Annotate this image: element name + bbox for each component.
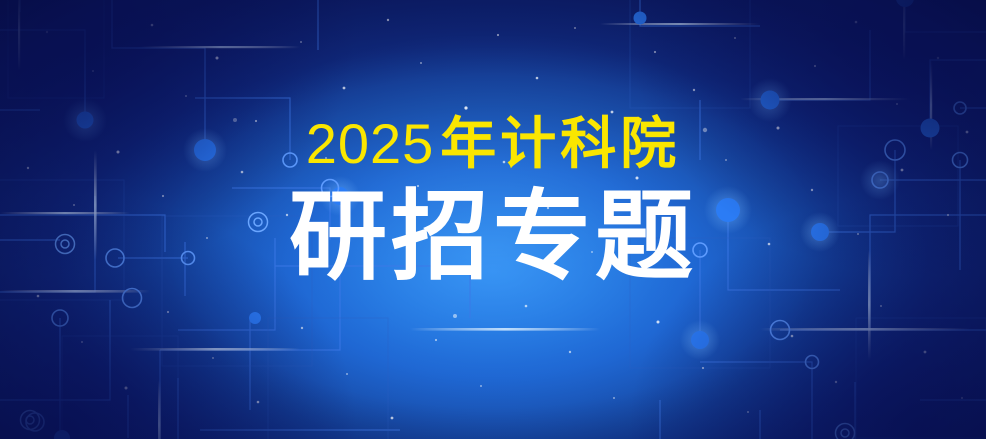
banner-department: 年计科院 xyxy=(440,112,680,175)
promo-banner: 2025年计科院 研招专题 xyxy=(0,0,986,439)
banner-text-block: 2025年计科院 研招专题 xyxy=(0,112,986,288)
banner-subtitle: 2025年计科院 xyxy=(0,112,986,176)
banner-year: 2025 xyxy=(306,112,435,175)
banner-title: 研招专题 xyxy=(0,184,986,288)
